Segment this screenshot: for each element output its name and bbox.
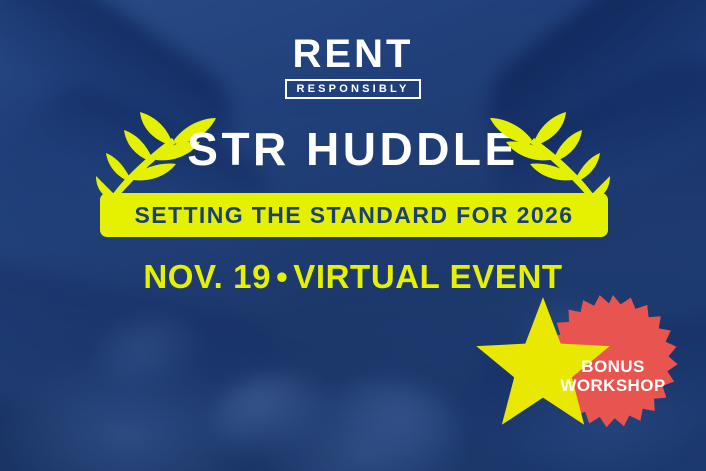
promo-content: RENT RESPONSIBLY (0, 0, 706, 471)
bonus-workshop-badge: BONUS WORKSHOP (543, 293, 683, 433)
badge-line-primary: BONUS (581, 357, 644, 376)
tagline-text: SETTING THE STANDARD FOR 2026 (135, 204, 574, 227)
brand-logo: RENT RESPONSIBLY (0, 34, 706, 99)
badge-text-block: BONUS WORKSHOP (543, 293, 683, 433)
event-date: NOV. 19 (143, 258, 271, 295)
logo-wordmark: RENT (0, 34, 706, 74)
event-format: VIRTUAL EVENT (293, 258, 562, 295)
logo-subtitle-box: RESPONSIBLY (285, 79, 420, 99)
logo-subtitle: RESPONSIBLY (296, 84, 409, 95)
bullet-separator-icon: • (271, 258, 293, 295)
badge-line-secondary: WORKSHOP (560, 376, 665, 395)
laurel-branch-icon (488, 110, 610, 206)
headline-row: STR HUDDLE (0, 118, 706, 188)
tagline-banner: SETTING THE STANDARD FOR 2026 (100, 193, 608, 237)
event-details: NOV. 19•VIRTUAL EVENT (0, 260, 706, 293)
promo-graphic: RENT RESPONSIBLY (0, 0, 706, 471)
